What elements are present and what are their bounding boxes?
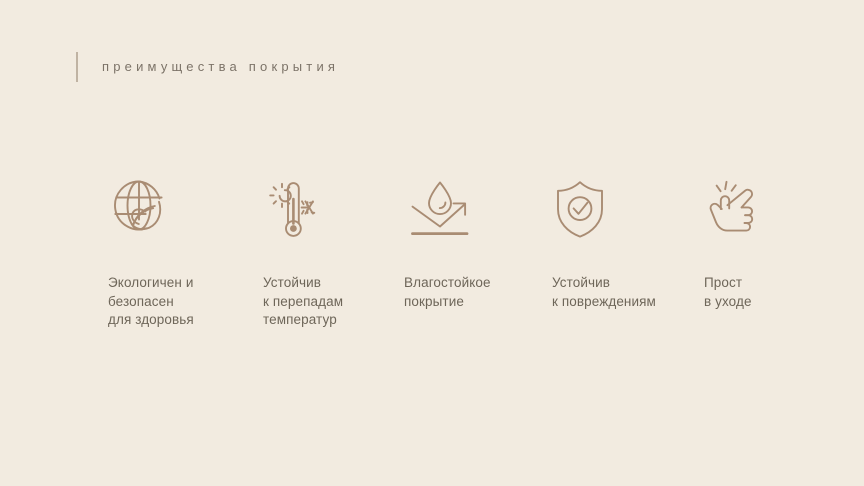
feature-caption: Прост в уходе	[704, 274, 752, 311]
feature-caption: Влагостойкое покрытие	[404, 274, 491, 311]
hand-tap-icon	[704, 178, 762, 240]
water-drop-repel-icon	[404, 178, 476, 240]
thermometer-sun-snowflake-icon	[263, 178, 323, 240]
feature-list: Экологичен и безопасен для здоровья	[108, 178, 808, 330]
page-title-label: преимущества покрытия	[102, 59, 339, 75]
title-accent-bar	[76, 52, 78, 82]
feature-item-waterproof: Влагостойкое покрытие	[404, 178, 552, 311]
feature-item-durability: Устойчив к повреждениям	[552, 178, 704, 311]
feature-caption: Экологичен и безопасен для здоровья	[108, 274, 194, 330]
feature-caption: Устойчив к перепадам температур	[263, 274, 343, 330]
feature-item-easy-care: Прост в уходе	[704, 178, 808, 311]
slide-root: преимущества покрытия Экологичен и безоп…	[0, 0, 864, 486]
page-title: преимущества покрытия	[76, 52, 339, 82]
globe-leaf-icon	[108, 178, 172, 240]
feature-item-temperature: Устойчив к перепадам температур	[263, 178, 404, 330]
feature-item-eco: Экологичен и безопасен для здоровья	[108, 178, 263, 330]
shield-check-icon	[552, 178, 608, 240]
feature-caption: Устойчив к повреждениям	[552, 274, 656, 311]
